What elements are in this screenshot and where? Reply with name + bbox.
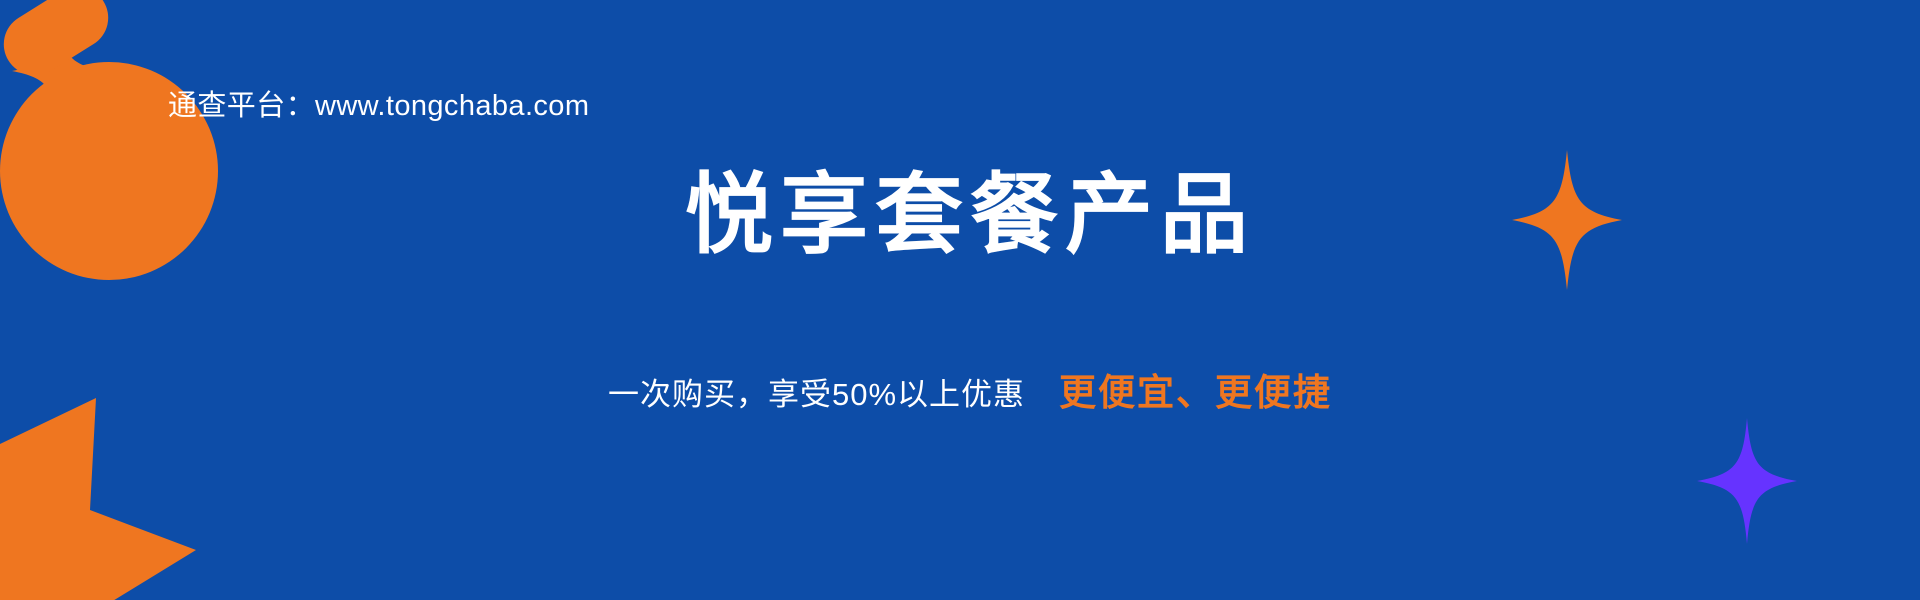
subtitle-offer-text: 一次购买，享受50%以上优惠 bbox=[608, 377, 1025, 412]
subtitle-row: 一次购买，享受50%以上优惠更便宜、更便捷 bbox=[0, 362, 1920, 416]
subtitle-accent-text: 更便宜、更便捷 bbox=[1059, 372, 1332, 413]
promo-banner: 通查平台：www.tongchaba.com 悦享套餐产品 一次购买，享受50%… bbox=[0, 0, 1920, 600]
text-layer: 通查平台：www.tongchaba.com 悦享套餐产品 一次购买，享受50%… bbox=[0, 0, 1920, 600]
page-title: 悦享套餐产品 bbox=[0, 164, 1920, 265]
site-url-line: 通查平台：www.tongchaba.com bbox=[168, 88, 589, 124]
